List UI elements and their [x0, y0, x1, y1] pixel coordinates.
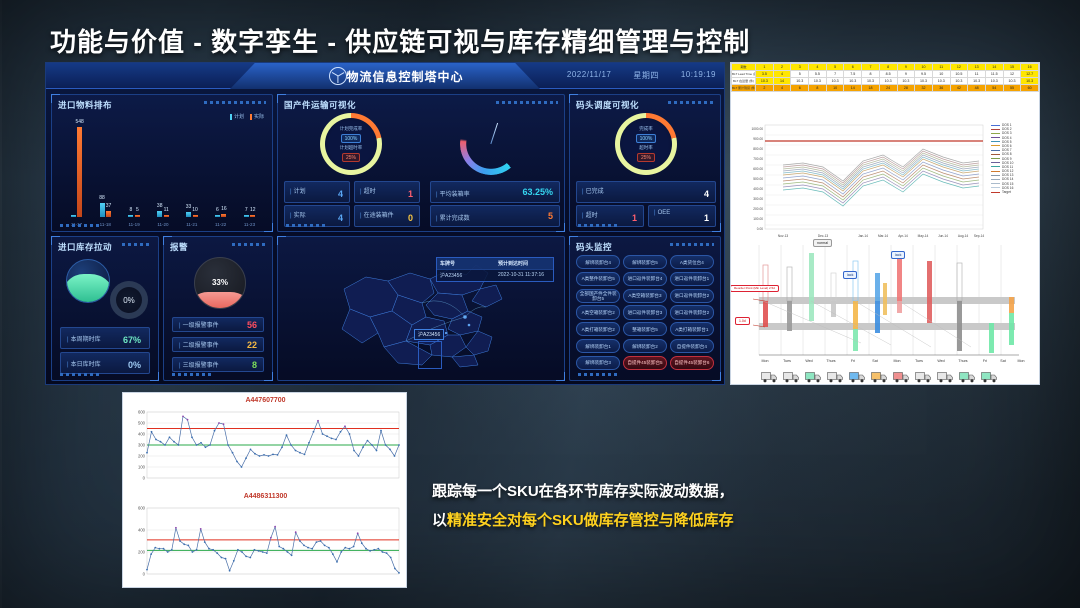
- ring-label-overtime: 超时率: [639, 145, 653, 151]
- stock-donut-gauge: 0%: [110, 281, 148, 319]
- svg-text:500: 500: [138, 421, 146, 426]
- truck-icon: [959, 370, 976, 382]
- caption-line-2: 以精准安全对每个SKU做库存管控与降低库存: [432, 507, 992, 536]
- bar-x-label: 11-19: [129, 222, 140, 227]
- alarm-value-level1: 56: [247, 320, 257, 330]
- table-cell: 24: [879, 85, 897, 92]
- map-south-sea-inset: [418, 341, 442, 369]
- bar-value: 8: [129, 207, 132, 213]
- bar-计划: 6: [215, 215, 220, 217]
- svg-text:Dec-13: Dec-13: [818, 234, 829, 238]
- annotation-normal: normal: [813, 239, 832, 247]
- svg-text:500.00: 500.00: [753, 177, 763, 181]
- panel-footer-dots: [60, 373, 100, 376]
- bar-group: 331011-21: [186, 212, 198, 217]
- legend-line: [991, 187, 1000, 188]
- table-cell: 6: [791, 85, 809, 92]
- table-cell: 10.5: [950, 71, 968, 78]
- kpi-value-total-completed: 5: [548, 211, 553, 221]
- ring-value-overtime: 25%: [637, 153, 655, 162]
- map-tooltip-header-plate: 车牌号: [437, 258, 495, 269]
- panel-decor-dots: [232, 243, 266, 246]
- kpi-value-plan: 4: [338, 189, 343, 199]
- svg-text:Mon: Mon: [762, 359, 769, 363]
- bar-实际: 11: [164, 215, 169, 217]
- dashboard-header: 物流信息控制塔中心 2022/11/17 星期四 10:19:19: [46, 63, 724, 89]
- dock-cell[interactable]: 自提件45装卸台5: [623, 356, 667, 370]
- bar-value: 548: [76, 119, 84, 125]
- dock-cell[interactable]: 解绑装卸台5: [623, 255, 667, 269]
- table-cell: 12: [1003, 71, 1021, 78]
- table-cell: 11.5: [985, 71, 1003, 78]
- bar-value: 88: [99, 195, 105, 201]
- panel-decor-dots: [668, 101, 714, 104]
- table-cell: 10.3: [879, 78, 897, 85]
- legend-line: [991, 162, 1000, 163]
- header-date: 2022/11/17: [567, 70, 611, 81]
- table-cell: 4: [773, 85, 791, 92]
- panel-footer-dots: [578, 224, 618, 227]
- table-cell: 10: [932, 71, 950, 78]
- panel-footer-dots: [172, 373, 212, 376]
- annotation-lack-1: lack: [843, 271, 857, 279]
- truck-icon: [827, 370, 844, 382]
- table-cell: 9: [897, 64, 915, 71]
- table-cell: 54: [985, 85, 1003, 92]
- dock-cell[interactable]: A类空箱装卸台3: [623, 289, 667, 303]
- dock-cell[interactable]: A类整件装卸台5: [576, 272, 620, 286]
- legend-line: [991, 183, 1000, 184]
- ring-inner: 计划完成率 100% 计划超时率 25%: [325, 118, 377, 170]
- bar-chart-legend: 计划 实际: [230, 113, 264, 120]
- ring-label-overtime: 计划超时率: [340, 145, 363, 151]
- table-cell: 14: [844, 85, 862, 92]
- table-cell: 9: [897, 71, 915, 78]
- table-cell: 16: [1021, 64, 1039, 71]
- legend-label-actual: 实际: [254, 113, 264, 120]
- svg-text:Sat: Sat: [1000, 359, 1005, 363]
- table-row-label: BLT 在途量 (件): [732, 78, 756, 85]
- bar-计划: 8: [128, 215, 133, 217]
- sku-chart-2: A4486311300 6004002000: [123, 493, 408, 587]
- dock-completion-ring-gauge: 完成率 100% 超时率 25%: [615, 113, 677, 175]
- legend-line: [991, 158, 1000, 159]
- svg-text:Mon: Mon: [894, 359, 901, 363]
- dos-line-chart-legend: DOS 1DOS 2DOS 3DOS 4DOS 5DOS 6DOS 7DOS 8…: [991, 123, 1037, 194]
- truck-icon: [981, 370, 998, 382]
- bar-value: 10: [192, 207, 198, 213]
- dock-cell[interactable]: 解绑装卸台4: [576, 255, 620, 269]
- table-cell: 6: [844, 64, 862, 71]
- liquid-fill-level: [66, 274, 110, 302]
- truck-icon: [937, 370, 954, 382]
- svg-text:May-14: May-14: [918, 234, 929, 238]
- table-cell: 2: [773, 64, 791, 71]
- alarm-liquid-ball: 33%: [194, 257, 246, 309]
- kpi-label-average-rate: 平均装箱率: [436, 189, 470, 198]
- alarm-row-level2: 二级报警事件 22: [172, 337, 264, 352]
- bar-实际: 37: [106, 211, 111, 217]
- table-cell: 7.5: [844, 71, 862, 78]
- bar-group: 8511-19: [128, 215, 140, 217]
- svg-text:Sep-14: Sep-14: [974, 234, 985, 238]
- alarm-percent-value: 33%: [195, 278, 245, 287]
- table-cell: 4: [773, 71, 791, 78]
- bar-实际: 548: [77, 127, 82, 217]
- dock-cell[interactable]: 解绑装卸台1: [576, 339, 620, 353]
- bar-value: 11: [164, 207, 169, 213]
- map-vehicle-callout: 沪A23456: [414, 329, 444, 340]
- ring-label-completion: 完成率: [639, 126, 653, 132]
- map-tooltip-value-plate: 沪A23456: [437, 270, 495, 281]
- dock-cell[interactable]: 解绑装卸台2: [623, 339, 667, 353]
- svg-text:Aug-14: Aug-14: [958, 234, 969, 238]
- caption-text: 跟踪每一个SKU在各环节库存实际波动数据， 以精准安全对每个SKU做库存管控与降…: [432, 478, 992, 535]
- svg-text:700.00: 700.00: [753, 157, 763, 161]
- kpi-value-dock-completed: 4: [704, 189, 709, 199]
- dock-cell[interactable]: 自提件45装卸台6: [670, 356, 714, 370]
- bar-value: 16: [221, 206, 227, 212]
- table-cell: 10.3: [809, 78, 827, 85]
- legend-line: [991, 150, 1000, 151]
- panel-import-stock: 进口库存拉动 0% 本周期时库 67% 本日库时库 0%: [51, 236, 159, 381]
- legend-line: [991, 133, 1000, 134]
- table-cell: 10: [826, 85, 844, 92]
- svg-text:300: 300: [138, 443, 146, 448]
- ring-value-overtime: 25%: [342, 153, 360, 162]
- map-tooltip-header: 车牌号 预计到达时间: [437, 258, 553, 270]
- table-cell: 10: [915, 64, 933, 71]
- header-time: 10:19:19: [681, 70, 716, 81]
- sku-chart-1: A447607700 6005004003002001000: [123, 397, 408, 491]
- svg-text:Fri: Fri: [851, 359, 855, 363]
- alarm-label-level2: 二级报警事件: [179, 340, 219, 349]
- kpi-label-dock-overtime: 超时: [582, 210, 598, 219]
- kpi-total-completed: 累计完成数 5: [430, 205, 560, 227]
- legend-line: [991, 175, 1000, 176]
- kpi-value-overtime: 1: [408, 189, 413, 199]
- dock-cell[interactable]: 进口返件装卸台2: [670, 289, 714, 303]
- table-cell: 48: [968, 85, 986, 92]
- table-row: BLT 累计到货 (件)2468101418242832364248545560: [732, 85, 1039, 92]
- ring-value-completion: 100%: [636, 134, 657, 143]
- import-bar-chart: 54811-17883711-188511-19381111-20331011-…: [62, 125, 264, 217]
- svg-text:0: 0: [143, 476, 146, 481]
- dock-cell[interactable]: A类打箱装卸台1: [670, 322, 714, 336]
- table-cell: 2: [756, 85, 774, 92]
- table-cell: 12.7: [1021, 71, 1039, 78]
- stock-donut-value: 0%: [116, 287, 142, 313]
- kpi-label-dock-completed: 已完成: [582, 186, 604, 195]
- panel-title-import-stock: 进口库存拉动: [58, 241, 112, 253]
- kpi-average-rate: 平均装箱率 63.25%: [430, 181, 560, 203]
- header-weekday: 星期四: [633, 70, 659, 81]
- legend-line: [991, 129, 1000, 130]
- kpi-label-plan: 计划: [290, 186, 306, 195]
- svg-text:400: 400: [138, 528, 146, 533]
- table-row: BLT 在途量 (件)10.31410.310.310.310.310.310.…: [732, 78, 1039, 85]
- sku-chart-2-title: A4486311300: [123, 493, 408, 500]
- kpi-value-in-transit: 0: [408, 213, 413, 223]
- table-cell: 42: [950, 85, 968, 92]
- dock-cell[interactable]: 进口返件装卸台3: [623, 305, 667, 319]
- panel-decor-dots: [122, 243, 152, 246]
- dashboard-datetime: 2022/11/17 星期四 10:19:19: [567, 70, 716, 81]
- average-loading-speed-gauge: [460, 113, 522, 175]
- map-tooltip-table: 车牌号 预计到达时间 沪A23456 2022-10-31 11:37:16: [436, 257, 554, 282]
- svg-text:600: 600: [138, 410, 146, 415]
- table-cell: 5: [826, 64, 844, 71]
- truck-icon: [849, 370, 866, 382]
- bar-计划: 7: [244, 215, 249, 217]
- svg-text:600.00: 600.00: [753, 167, 763, 171]
- dos-line-chart: 1000.00900.00 800.00700.00 600.00500.00 …: [731, 121, 1039, 249]
- svg-text:Tues: Tues: [915, 359, 923, 363]
- alarm-fill-level: [194, 292, 246, 309]
- kpi-in-transit: 在途装箱件 0: [354, 205, 420, 227]
- svg-text:900.00: 900.00: [753, 137, 763, 141]
- legend-line: [991, 141, 1000, 142]
- dock-cell[interactable]: 解绑装卸台3: [576, 356, 620, 370]
- bar-x-label: 11-21: [186, 222, 197, 227]
- bar-计划: 38: [157, 211, 162, 217]
- legend-label-plan: 计划: [234, 113, 244, 120]
- panel-decor-dots: [496, 101, 558, 104]
- panel-footer-dots: [60, 224, 100, 227]
- panel-title-dock-monitor: 码头监控: [576, 241, 612, 253]
- panel-import-material: 进口物料排布 计划 实际 54811-17883711-188511-19381…: [51, 94, 273, 232]
- bar-group: 61611-22: [215, 214, 227, 217]
- table-cell: 10.3: [950, 78, 968, 85]
- kpi-label-in-transit: 在途装箱件: [360, 210, 394, 219]
- caption-line-1: 跟踪每一个SKU在各环节库存实际波动数据，: [432, 478, 992, 507]
- panel-title-import-material: 进口物料排布: [58, 99, 112, 111]
- legend-line: [991, 171, 1000, 172]
- panel-alarm: 报警 33% 一级报警事件 56 二级报警事件 22 三级报警事件 8: [163, 236, 273, 381]
- bar-group: 883711-18: [100, 203, 112, 217]
- caption-line-2-prefix: 以: [432, 512, 447, 529]
- alarm-value-level2: 22: [247, 340, 257, 350]
- dock-monitor-grid: 解绑装卸台4解绑装卸台5A类货位台4A类整件装卸台5进口返件装卸台4进口返件装卸…: [576, 255, 714, 370]
- panel-decor-dots: [670, 243, 714, 246]
- map-container[interactable]: 车牌号 预计到达时间 沪A23456 2022-10-31 11:37:16 沪…: [282, 255, 560, 374]
- dock-cell[interactable]: 整箱装卸台5: [623, 322, 667, 336]
- table-cell: 7: [862, 64, 880, 71]
- svg-text:400.00: 400.00: [753, 187, 763, 191]
- panel-china-map: 车牌号 预计到达时间 沪A23456 2022-10-31 11:37:16 沪…: [277, 236, 565, 381]
- kpi-dock-completed: 已完成 4: [576, 181, 716, 203]
- bar-计划: [71, 215, 76, 217]
- panel-dock-monitor: 码头监控 解绑装卸台4解绑装卸台5A类货位台4A类整件装卸台5进口返件装卸台4进…: [569, 236, 721, 381]
- kpi-value-actual: 4: [338, 213, 343, 223]
- table-cell: 10.3: [897, 78, 915, 85]
- table-cell: 14: [773, 78, 791, 85]
- bar-计划: 88: [100, 203, 105, 217]
- dock-cell[interactable]: A类空箱装卸台2: [576, 305, 620, 319]
- alarm-label-level3: 三级报警事件: [179, 360, 219, 369]
- table-cell: 10.3: [826, 78, 844, 85]
- svg-text:200: 200: [138, 454, 146, 459]
- completion-ring-gauge: 计划完成率 100% 计划超时率 25%: [320, 113, 382, 175]
- legend-item-plan: 计划: [230, 113, 244, 120]
- table-cell: 10.3: [1021, 78, 1039, 85]
- legend-line: [991, 192, 1000, 193]
- kpi-label-total-completed: 累计完成数: [436, 213, 470, 222]
- table-cell: 10.3: [756, 78, 774, 85]
- table-cell: 5.5: [809, 71, 827, 78]
- bullwhip-data-table: 期数12345678910111213141516BLT Lead Time (…: [731, 63, 1039, 92]
- table-cell: 10.3: [915, 78, 933, 85]
- table-row-label: 期数: [732, 64, 756, 71]
- dashboard-title: 物流信息控制塔中心: [346, 68, 463, 85]
- legend-line: [991, 179, 1000, 180]
- panel-dock-schedule: 码头调度可视化 完成率 100% 超时率 25% 已完成 4 超时 1 OEE …: [569, 94, 721, 232]
- table-cell: 18: [862, 85, 880, 92]
- kpi-value-dock-overtime: 1: [632, 213, 637, 223]
- alarm-row-level3: 三级报警事件 8: [172, 357, 264, 372]
- table-cell: 8: [809, 85, 827, 92]
- svg-text:600: 600: [138, 506, 146, 511]
- stock-value-week: 67%: [123, 335, 141, 345]
- dock-cell[interactable]: 进口返件装卸台1: [670, 272, 714, 286]
- truck-icon: [761, 370, 778, 382]
- legend-line: [991, 145, 1000, 146]
- bar-value: 6: [216, 207, 219, 213]
- table-cell: 8.5: [879, 71, 897, 78]
- svg-text:Mon: Mon: [1018, 359, 1025, 363]
- bar-value: 7: [245, 207, 248, 213]
- table-cell: 10.3: [985, 78, 1003, 85]
- truck-icon: [893, 370, 910, 382]
- svg-text:Jan-14: Jan-14: [858, 234, 868, 238]
- table-row: BLT Lead Time (周)3.5455.577.588.599.5101…: [732, 71, 1039, 78]
- stock-label-day: 本日库时库: [67, 359, 101, 368]
- stock-value-day: 0%: [128, 360, 141, 370]
- svg-text:300.00: 300.00: [753, 197, 763, 201]
- table-cell: 10.3: [932, 78, 950, 85]
- bar-group: 71211-23: [244, 215, 256, 217]
- svg-text:800.00: 800.00: [753, 147, 763, 151]
- truck-icon: [783, 370, 800, 382]
- annotation-lack-2: lack: [891, 251, 905, 259]
- bar-value: 38: [157, 203, 163, 209]
- table-cell: 28: [897, 85, 915, 92]
- bar-实际: 10: [193, 215, 198, 217]
- kpi-plan: 计划 4: [284, 181, 350, 203]
- bar-value: 5: [136, 207, 139, 213]
- truck-icon: [871, 370, 888, 382]
- bar-group: 54811-17: [71, 127, 83, 217]
- panel-footer-dots: [286, 224, 326, 227]
- svg-text:Wed: Wed: [805, 359, 812, 363]
- panel-domestic-transport: 国产件运输可视化 计划完成率 100% 计划超时率 25% 计划 4 超时 1 …: [277, 94, 565, 232]
- dock-cell[interactable]: 全部国产件全件装卸台5: [576, 289, 620, 303]
- bar-value: 33: [186, 204, 192, 210]
- dock-cell[interactable]: 进口返件装卸台4: [623, 272, 667, 286]
- map-tooltip-header-eta: 预计到达时间: [495, 258, 553, 269]
- table-cell: 3: [791, 64, 809, 71]
- table-cell: 11: [932, 64, 950, 71]
- sku-chart-1-title: A447607700: [123, 397, 408, 404]
- svg-text:Thurs: Thurs: [958, 359, 967, 363]
- svg-text:Thurs: Thurs: [826, 359, 835, 363]
- dock-cell[interactable]: A类货位台4: [670, 255, 714, 269]
- map-tooltip-value-eta: 2022-10-31 11:37:16: [495, 270, 553, 281]
- table-cell: 60: [1021, 85, 1039, 92]
- bar-x-label: 11-22: [215, 222, 226, 227]
- svg-text:100.00: 100.00: [753, 217, 763, 221]
- ring-value-completion: 100%: [341, 134, 362, 143]
- alarm-row-level1: 一级报警事件 56: [172, 317, 264, 332]
- panel-title-alarm: 报警: [170, 241, 188, 253]
- ring-label-completion: 计划完成率: [340, 126, 363, 132]
- table-cell: 55: [1003, 85, 1021, 92]
- legend-line: [991, 154, 1000, 155]
- panel-title-dock-schedule: 码头调度可视化: [576, 99, 639, 111]
- inventory-report-panel: 期数12345678910111213141516BLT Lead Time (…: [730, 62, 1040, 385]
- bar-x-label: 11-18: [100, 222, 111, 227]
- table-row-label: BLT 累计到货 (件): [732, 85, 756, 92]
- table-row-label: BLT Lead Time (周): [732, 71, 756, 78]
- svg-text:0: 0: [143, 572, 146, 577]
- alarm-value-level3: 8: [252, 360, 257, 370]
- table-cell: 10.3: [1003, 78, 1021, 85]
- table-cell: 1: [756, 64, 774, 71]
- dock-cell[interactable]: 自提件装卸台4: [670, 339, 714, 353]
- svg-text:400: 400: [138, 432, 146, 437]
- sku-chart-1-svg: 6005004003002001000: [123, 406, 408, 492]
- table-cell: 13: [968, 64, 986, 71]
- kpi-label-dock-oee: OEE: [654, 210, 670, 216]
- svg-text:Sat: Sat: [872, 359, 877, 363]
- table-cell: 36: [932, 85, 950, 92]
- caption-line-2-highlight: 精准安全对每个SKU做库存管控与降低库存: [447, 512, 734, 529]
- table-cell: 10.3: [844, 78, 862, 85]
- dock-cell[interactable]: A类打箱装卸台2: [576, 322, 620, 336]
- legend-swatch-plan: [230, 114, 232, 120]
- stock-label-week: 本周期时库: [67, 334, 101, 343]
- table-cell: 3.5: [756, 71, 774, 78]
- bar-实际: 16: [221, 214, 226, 217]
- bar-x-label: 11-20: [157, 222, 168, 227]
- table-cell: 8: [862, 71, 880, 78]
- panel-title-domestic-transport: 国产件运输可视化: [284, 99, 356, 111]
- dock-cell[interactable]: 进口返件装卸台2: [670, 305, 714, 319]
- table-cell: 7: [826, 71, 844, 78]
- table-cell: 15: [1003, 64, 1021, 71]
- bar-x-label: 11-23: [244, 222, 255, 227]
- kpi-overtime: 超时 1: [354, 181, 420, 203]
- bar-实际: 5: [135, 215, 140, 217]
- svg-text:200: 200: [138, 550, 146, 555]
- table-cell: 9.5: [915, 71, 933, 78]
- page-title: 功能与价值 - 数字孪生 - 供应链可视与库存精细管理与控制: [50, 22, 750, 59]
- table-row: 期数12345678910111213141516: [732, 64, 1039, 71]
- bar-group: 381111-20: [157, 211, 169, 217]
- table-cell: 5: [791, 71, 809, 78]
- table-cell: 14: [985, 64, 1003, 71]
- legend-line: [991, 166, 1000, 167]
- bar-value: 12: [250, 207, 256, 213]
- svg-text:0.00: 0.00: [757, 227, 763, 231]
- table-cell: 10.3: [968, 78, 986, 85]
- bar-value: 37: [106, 203, 112, 209]
- legend-line: [991, 137, 1000, 138]
- kpi-dock-oee: OEE 1: [648, 205, 716, 227]
- svg-text:Jun-14: Jun-14: [938, 234, 948, 238]
- liquid-fill-ball: [66, 259, 110, 303]
- annotation-reorder-point: Reorder Point (Min Level) 2.5d: [730, 285, 779, 292]
